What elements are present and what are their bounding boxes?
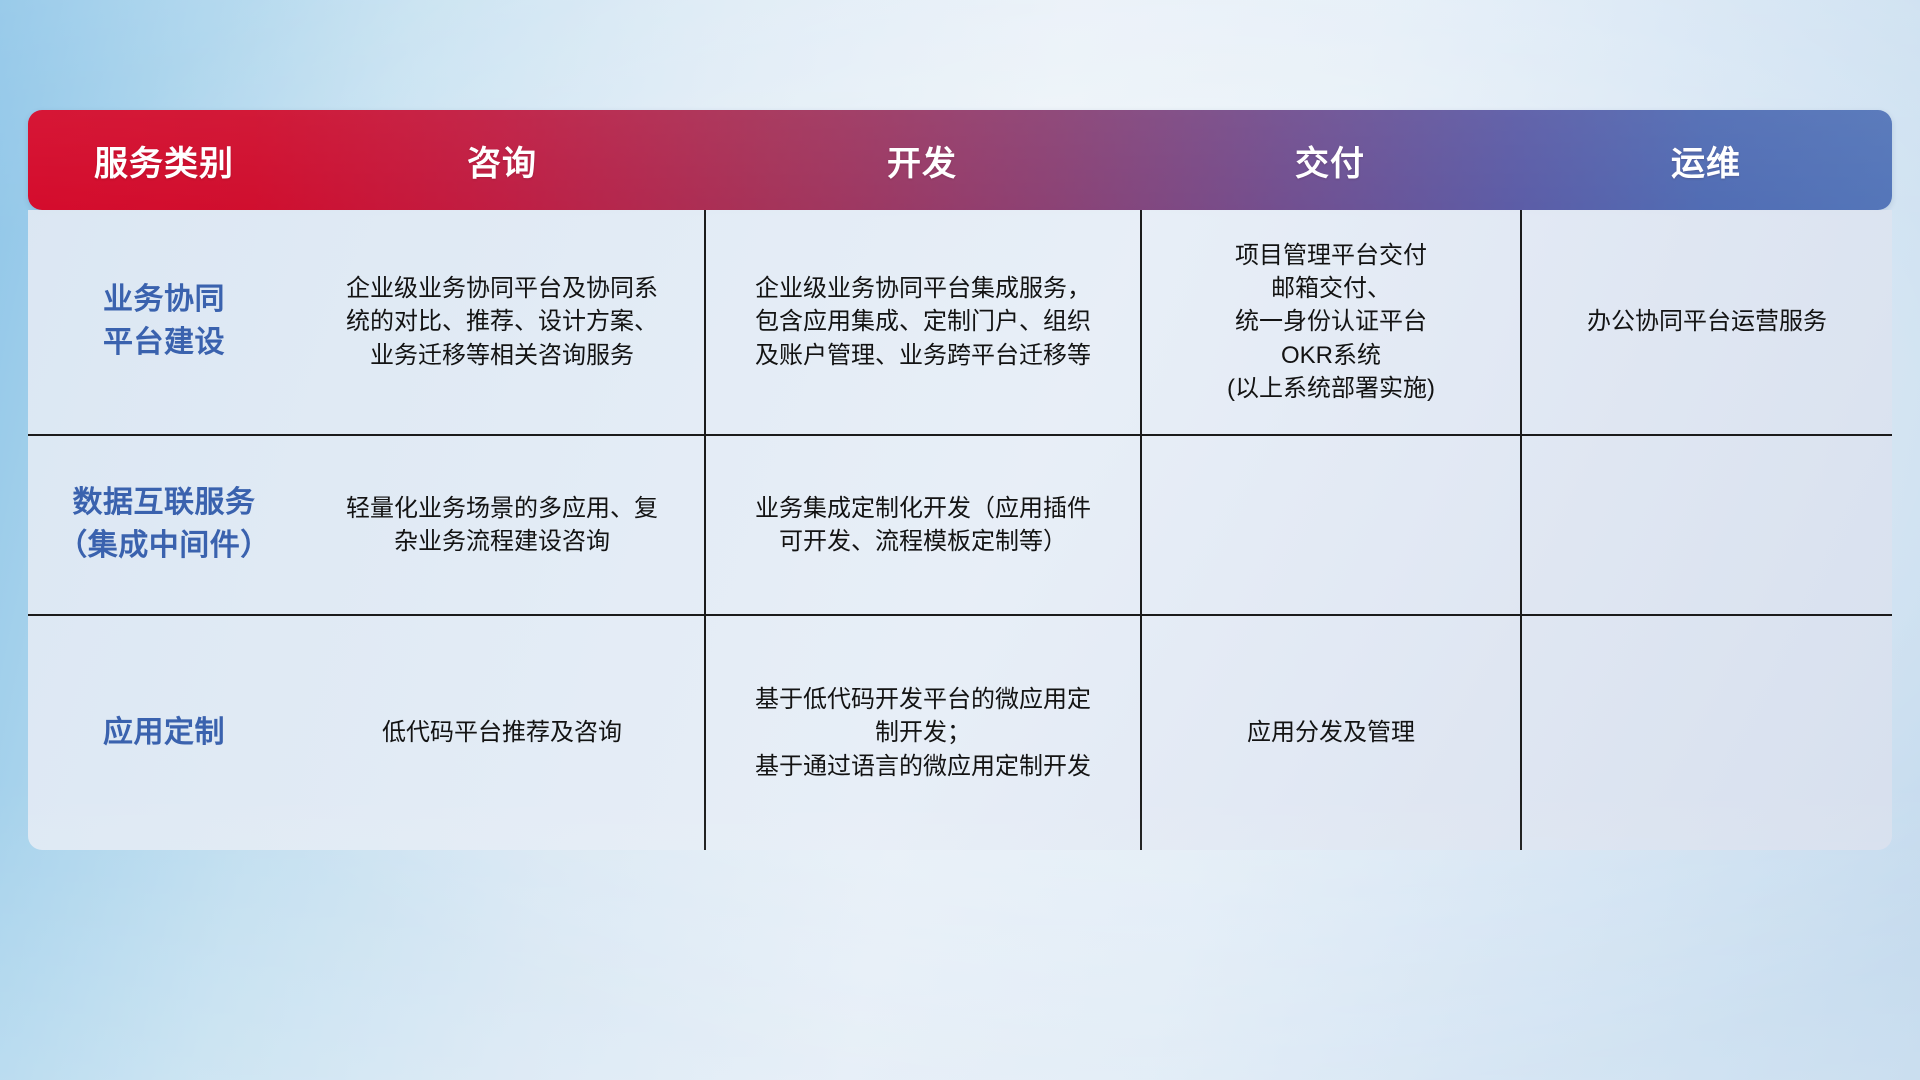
cell-development-row2: 业务集成定制化开发（应用插件 可开发、流程模板定制等） xyxy=(704,436,1140,614)
cell-delivery-row3: 应用分发及管理 xyxy=(1140,616,1520,850)
cell-operations-row3 xyxy=(1520,616,1892,850)
table-row: 应用定制 低代码平台推荐及咨询 基于低代码开发平台的微应用定 制开发； 基于通过… xyxy=(28,614,1892,850)
table-row: 数据互联服务 （集成中间件） 轻量化业务场景的多应用、复 杂业务流程建设咨询 业… xyxy=(28,434,1892,614)
table-row: 业务协同 平台建设 企业级业务协同平台及协同系 统的对比、推荐、设计方案、 业务… xyxy=(28,210,1892,434)
table-header-row: 服务类别 咨询 开发 交付 运维 xyxy=(28,110,1892,210)
cell-consulting-row2: 轻量化业务场景的多应用、复 杂业务流程建设咨询 xyxy=(300,436,704,614)
column-header-category: 服务类别 xyxy=(28,110,300,210)
cell-operations-row2 xyxy=(1520,436,1892,614)
column-header-operations: 运维 xyxy=(1520,110,1892,210)
cell-consulting-row1: 企业级业务协同平台及协同系 统的对比、推荐、设计方案、 业务迁移等相关咨询服务 xyxy=(300,210,704,434)
cell-development-row1: 企业级业务协同平台集成服务， 包含应用集成、定制门户、组织 及账户管理、业务跨平… xyxy=(704,210,1140,434)
row-label-app-customization: 应用定制 xyxy=(28,616,300,850)
cell-consulting-row3: 低代码平台推荐及咨询 xyxy=(300,616,704,850)
cell-operations-row1: 办公协同平台运营服务 xyxy=(1520,210,1892,434)
column-header-development: 开发 xyxy=(704,110,1140,210)
service-matrix-table: 服务类别 咨询 开发 交付 运维 业务协同 平台建设 企业级业务协同平台及协同系… xyxy=(28,110,1892,850)
cell-development-row3: 基于低代码开发平台的微应用定 制开发； 基于通过语言的微应用定制开发 xyxy=(704,616,1140,850)
cell-delivery-row1: 项目管理平台交付 邮箱交付、 统一身份认证平台 OKR系统 (以上系统部署实施) xyxy=(1140,210,1520,434)
column-header-delivery: 交付 xyxy=(1140,110,1520,210)
row-label-data-interconnect: 数据互联服务 （集成中间件） xyxy=(28,436,300,614)
page-canvas: 服务类别 咨询 开发 交付 运维 业务协同 平台建设 企业级业务协同平台及协同系… xyxy=(0,0,1920,1080)
row-label-business-collaboration: 业务协同 平台建设 xyxy=(28,210,300,434)
cell-delivery-row2 xyxy=(1140,436,1520,614)
table-body: 业务协同 平台建设 企业级业务协同平台及协同系 统的对比、推荐、设计方案、 业务… xyxy=(28,210,1892,850)
column-header-consulting: 咨询 xyxy=(300,110,704,210)
